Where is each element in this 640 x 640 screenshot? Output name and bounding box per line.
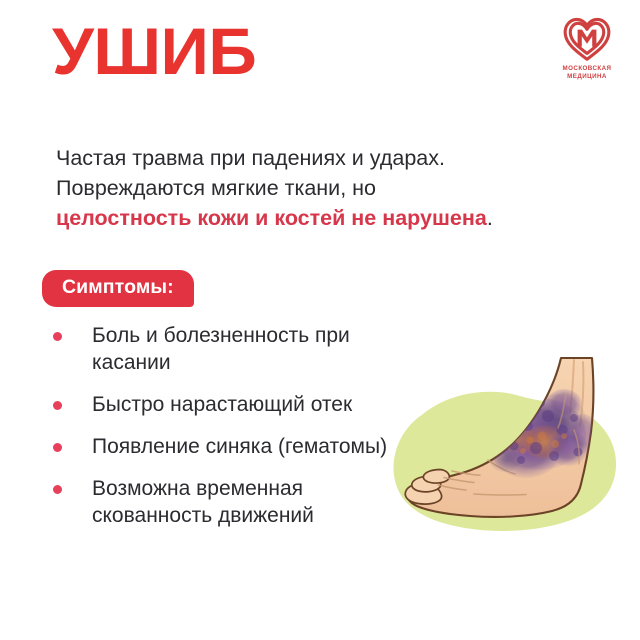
- logo-letter-m: [578, 30, 597, 47]
- logo-text-block: Московская медицина: [563, 65, 612, 81]
- foot-svg: [378, 356, 630, 571]
- list-item: Боль и болезненность при касании: [44, 322, 394, 376]
- symptoms-badge: Симптомы:: [42, 270, 194, 307]
- intro-line-1: Частая травма при падениях и ударах.: [56, 146, 445, 170]
- list-item: Быстро нарастающий отек: [44, 391, 394, 418]
- page-title: УШИБ: [52, 18, 256, 84]
- poster-canvas: Московская медицина УШИБ Частая травма п…: [0, 0, 640, 640]
- intro-period: .: [487, 206, 493, 230]
- logo-line-2: медицина: [563, 73, 612, 81]
- bruised-foot-illustration: [378, 356, 630, 571]
- list-item: Возможна временная скованность движений: [44, 475, 394, 529]
- heart-m-icon: [562, 16, 612, 62]
- intro-paragraph: Частая травма при падениях и ударах.Повр…: [56, 143, 526, 233]
- symptoms-list: Боль и болезненность при касании Быстро …: [44, 322, 394, 529]
- intro-line-2: Повреждаются мягкие ткани, но: [56, 176, 376, 200]
- logo-line-1: Московская: [563, 65, 612, 73]
- list-item: Появление синяка (гематомы): [44, 433, 394, 460]
- brand-logo: Московская медицина: [550, 16, 624, 81]
- intro-highlight: целостность кожи и костей не нарушена: [56, 206, 487, 230]
